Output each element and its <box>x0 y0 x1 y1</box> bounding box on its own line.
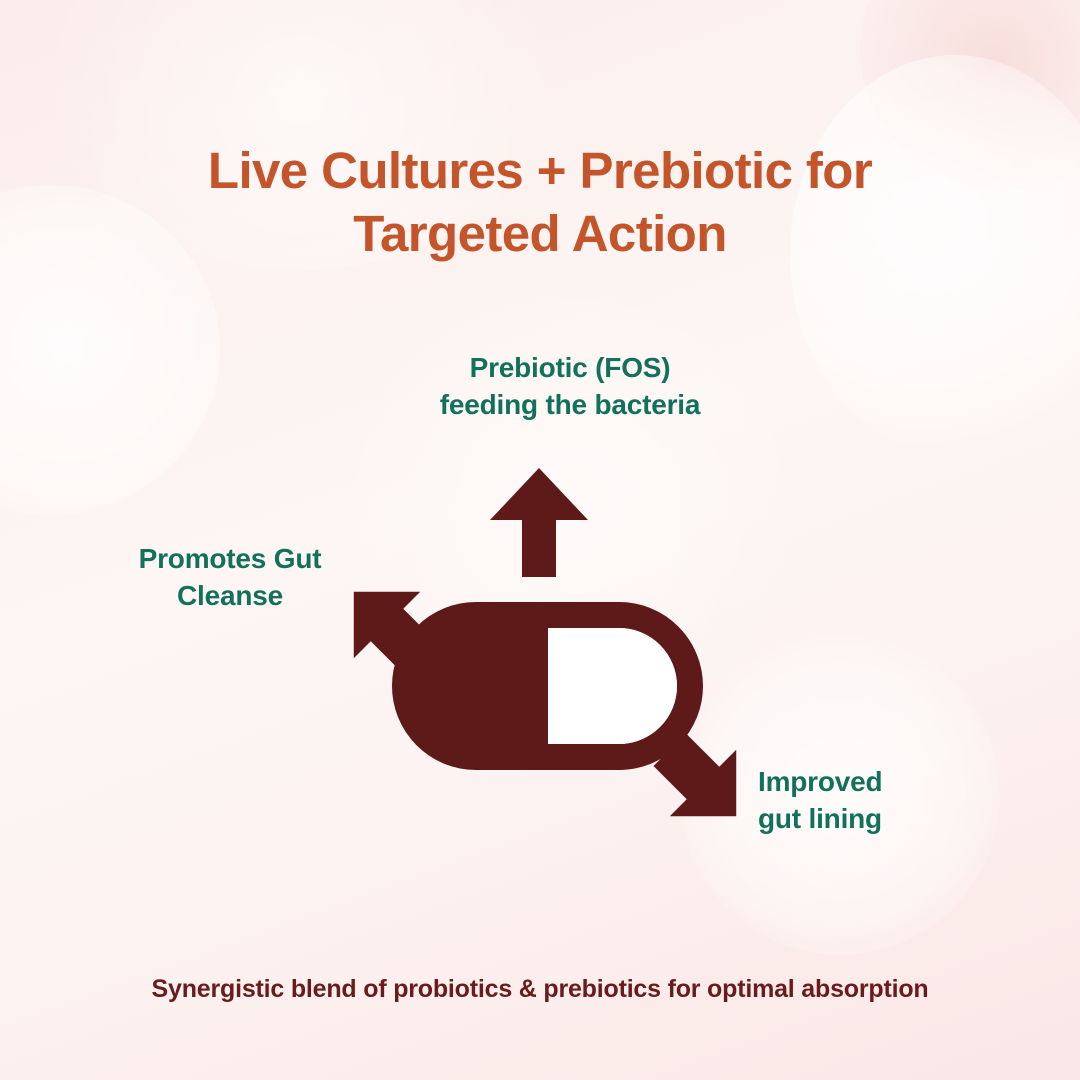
capsule-empty-half <box>548 628 677 744</box>
callout-prebiotic-fos-line-1: Prebiotic (FOS) <box>470 352 671 383</box>
callout-improved-gut-lining-line-1: Improved <box>758 766 882 797</box>
callout-prebiotic-fos-line-2: feeding the bacteria <box>440 389 701 420</box>
footer-note: Synergistic blend of probiotics & prebio… <box>0 975 1080 1004</box>
callout-improved-gut-lining: Improved gut lining <box>758 764 1058 838</box>
callout-promotes-gut-cleanse-line-2: Cleanse <box>177 580 283 611</box>
capsule-diagram <box>320 450 770 830</box>
callout-improved-gut-lining-line-2: gut lining <box>758 803 882 834</box>
callout-prebiotic-fos: Prebiotic (FOS) feeding the bacteria <box>370 350 770 424</box>
page-title-line-2: Targeted Action <box>0 203 1080 266</box>
capsule-diagram-svg <box>320 450 770 830</box>
page-title: Live Cultures + Prebiotic for Targeted A… <box>0 140 1080 265</box>
page-title-line-1: Live Cultures + Prebiotic for <box>0 140 1080 203</box>
callout-promotes-gut-cleanse-line-1: Promotes Gut <box>139 543 322 574</box>
infographic-canvas: Live Cultures + Prebiotic for Targeted A… <box>0 0 1080 1080</box>
arrow-up-icon <box>490 468 588 577</box>
probiotic-capsule-icon <box>405 615 690 757</box>
